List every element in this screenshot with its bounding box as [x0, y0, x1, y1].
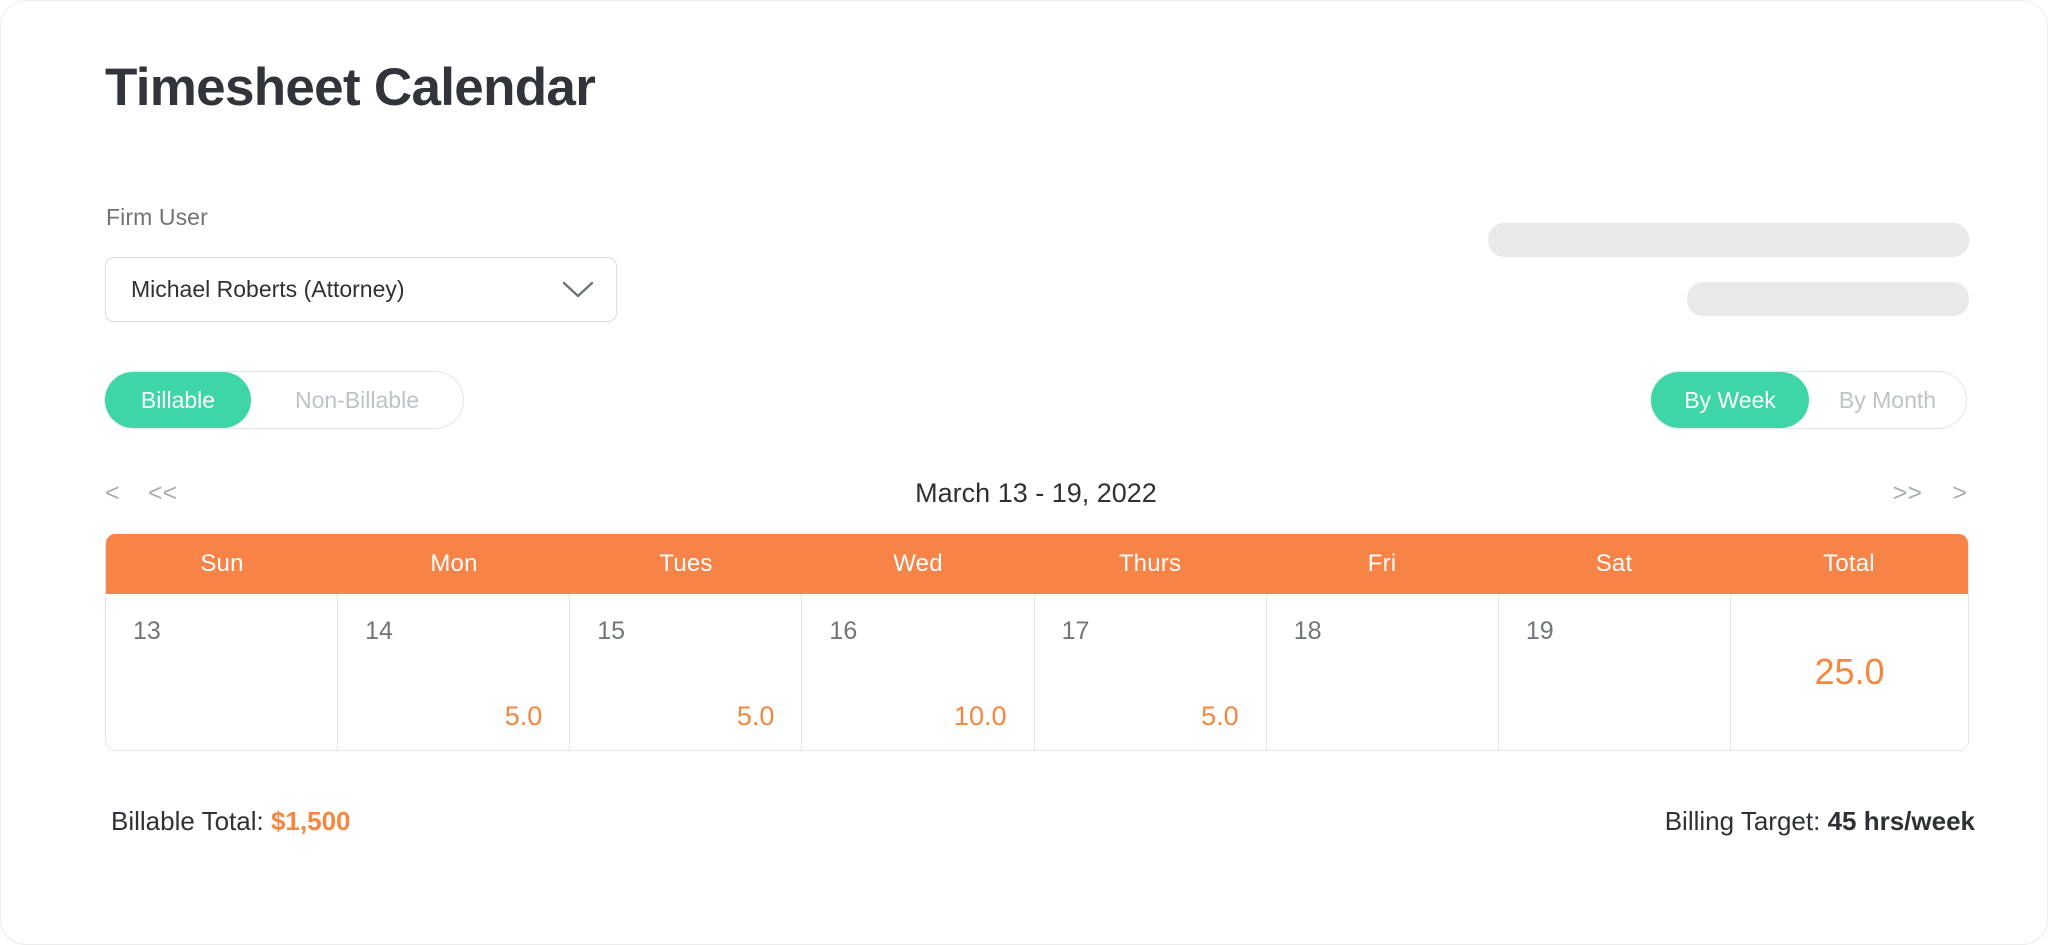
column-header-mon: Mon [338, 534, 570, 594]
day-cell-14[interactable]: 14 5.0 [337, 594, 569, 750]
column-header-thurs: Thurs [1034, 534, 1266, 594]
day-cell-19[interactable]: 19 [1498, 594, 1730, 750]
billable-total: Billable Total: $1,500 [111, 806, 351, 837]
chevron-down-icon [562, 281, 594, 299]
day-cell-18[interactable]: 18 [1266, 594, 1498, 750]
toggle-option-by-month[interactable]: By Month [1809, 372, 1966, 428]
week-total-value: 25.0 [1731, 651, 1968, 693]
week-total-cell: 25.0 [1730, 594, 1968, 750]
next-double-arrow-icon[interactable]: >> [1893, 473, 1922, 513]
day-hours: 5.0 [1201, 701, 1239, 732]
billable-toggle[interactable]: Billable Non-Billable [104, 371, 464, 429]
date-range-label: March 13 - 19, 2022 [105, 473, 1967, 513]
day-number: 15 [597, 617, 625, 646]
placeholder-bar-secondary [1687, 282, 1969, 316]
placeholder-bar-primary [1488, 223, 1969, 257]
day-hours: 5.0 [505, 701, 543, 732]
range-toggle[interactable]: By Week By Month [1650, 371, 1967, 429]
day-cell-15[interactable]: 15 5.0 [569, 594, 801, 750]
next-single-arrow-icon[interactable]: > [1952, 473, 1967, 513]
table-header-row: Sun Mon Tues Wed Thurs Fri Sat Total [106, 534, 1968, 594]
column-header-total: Total [1730, 534, 1968, 594]
day-number: 19 [1526, 617, 1554, 646]
day-hours: 5.0 [737, 701, 775, 732]
table-row: 13 14 5.0 15 5.0 16 10.0 17 5.0 18 [106, 594, 1968, 750]
column-header-sun: Sun [106, 534, 338, 594]
firm-user-label: Firm User [106, 204, 208, 231]
table-footer: Billable Total: $1,500 Billing Target: 4… [111, 806, 1975, 837]
day-number: 14 [365, 617, 393, 646]
billable-total-value: $1,500 [271, 806, 351, 836]
day-number: 13 [133, 617, 161, 646]
day-cell-16[interactable]: 16 10.0 [801, 594, 1033, 750]
column-header-fri: Fri [1266, 534, 1498, 594]
billing-target-label: Billing Target: [1665, 806, 1821, 836]
billable-total-label: Billable Total: [111, 806, 264, 836]
page-title: Timesheet Calendar [105, 59, 595, 117]
firm-user-select[interactable]: Michael Roberts (Attorney) [105, 257, 617, 322]
billing-target: Billing Target: 45 hrs/week [1665, 806, 1975, 837]
day-number: 18 [1294, 617, 1322, 646]
toggle-option-by-week[interactable]: By Week [1651, 372, 1809, 428]
firm-user-selected-value: Michael Roberts (Attorney) [131, 276, 562, 303]
toggle-option-non-billable[interactable]: Non-Billable [251, 372, 463, 428]
day-cell-13[interactable]: 13 [106, 594, 337, 750]
toggle-option-billable[interactable]: Billable [105, 372, 251, 428]
day-cell-17[interactable]: 17 5.0 [1034, 594, 1266, 750]
column-header-tues: Tues [570, 534, 802, 594]
day-number: 16 [829, 617, 857, 646]
day-hours: 10.0 [954, 701, 1007, 732]
date-navigation: < << March 13 - 19, 2022 >> > [105, 473, 1967, 513]
column-header-sat: Sat [1498, 534, 1730, 594]
timesheet-calendar-page: Timesheet Calendar Firm User Michael Rob… [0, 0, 2048, 945]
billing-target-value: 45 hrs/week [1828, 806, 1975, 836]
timesheet-table: Sun Mon Tues Wed Thurs Fri Sat Total 13 … [105, 534, 1969, 751]
day-number: 17 [1062, 617, 1090, 646]
column-header-wed: Wed [802, 534, 1034, 594]
